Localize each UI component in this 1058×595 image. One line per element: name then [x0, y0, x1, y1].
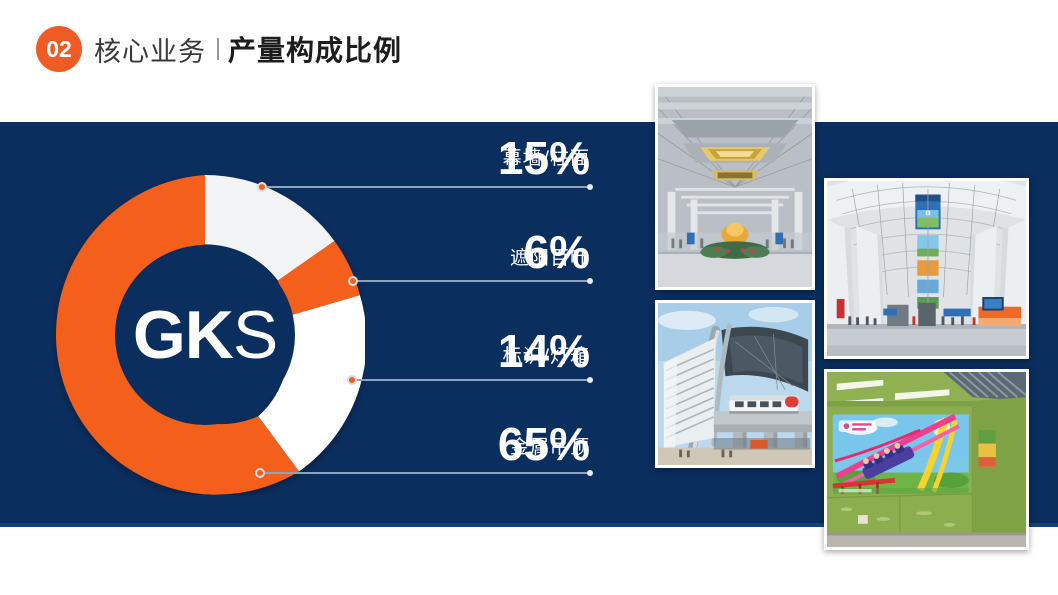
- callout-anchor-dot: [257, 182, 267, 192]
- photo-2-artwork: [827, 181, 1026, 356]
- callout-anchor-dot: [348, 276, 358, 286]
- callout-metal-ceiling: 65% 金属吊顶: [260, 427, 590, 474]
- photo-4-artwork: [827, 372, 1026, 547]
- callout-end-dot: [587, 278, 593, 284]
- callout-anchor-dot: [347, 375, 357, 385]
- callout-end-dot: [587, 184, 593, 190]
- callout-sunshade: 6% 遮阳百叶: [353, 238, 590, 282]
- photo-terminal-hall-columns: [824, 178, 1029, 359]
- callout-curtain-wall: 15% 幕墙/柱面: [262, 138, 590, 188]
- callout-leader-line: [260, 472, 590, 474]
- header-divider: [217, 38, 219, 60]
- photo-3-artwork: [658, 303, 812, 465]
- callout-label: 幕墙/柱面: [503, 143, 590, 170]
- callout-end-dot: [587, 470, 593, 476]
- photo-1-artwork: [658, 87, 812, 287]
- header-inner: 02 核心业务 产量构成比例: [36, 25, 402, 73]
- photo-airport-terminal-ceiling: [655, 84, 815, 290]
- header-subtitle: 核心业务: [94, 30, 206, 69]
- donut-hole: [115, 245, 295, 425]
- page-title: 产量构成比例: [228, 29, 402, 69]
- slide-header: 02 核心业务 产量构成比例: [0, 0, 1058, 122]
- section-number-badge: 02: [36, 26, 82, 72]
- callout-signage: 14% 标识/灯箱: [352, 336, 590, 381]
- callout-label: 金属吊顶: [510, 432, 590, 459]
- callout-leader-line: [353, 280, 590, 282]
- callout-anchor-dot: [255, 468, 265, 478]
- photo-subway-green-wall-ad: [824, 369, 1029, 550]
- photo-elevated-metro-station: [655, 300, 815, 468]
- callout-leader-line: [262, 186, 590, 188]
- callout-label: 遮阳百叶: [510, 243, 590, 270]
- callout-leader-line: [352, 379, 590, 381]
- callout-label: 标识/灯箱: [503, 341, 590, 368]
- callout-end-dot: [587, 377, 593, 383]
